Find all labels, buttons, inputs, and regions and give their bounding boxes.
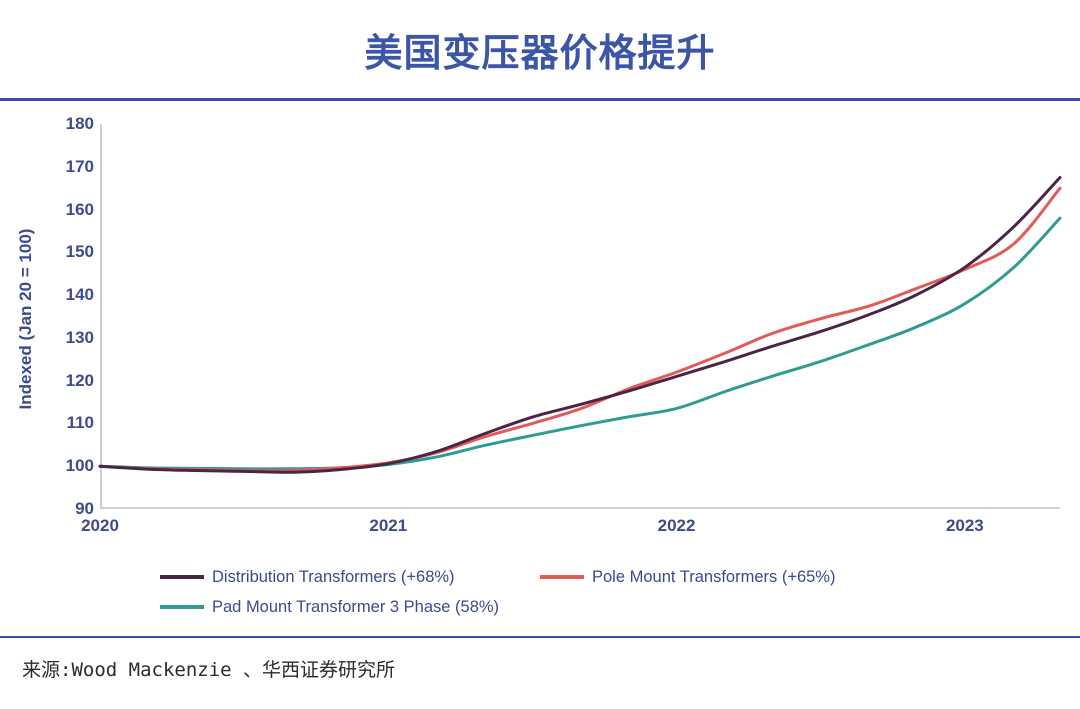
legend-label-pole-mount-transformers: Pole Mount Transformers (+65%): [592, 568, 835, 587]
series-line: [100, 218, 1060, 469]
chart-container: Indexed (Jan 20 = 100) 90100110120130140…: [0, 104, 1080, 634]
legend-label-pad-mount-transformer: Pad Mount Transformer 3 Phase (58%): [212, 598, 499, 617]
legend-label-distribution-transformers: Distribution Transformers (+68%): [212, 568, 455, 587]
legend-swatch-distribution-transformers: [160, 575, 204, 579]
legend-row: Pad Mount Transformer 3 Phase (58%): [160, 592, 1060, 622]
series-line: [100, 188, 1060, 471]
legend-item-pole-mount-transformers[interactable]: Pole Mount Transformers (+65%): [540, 568, 835, 587]
legend-row: Distribution Transformers (+68%) Pole Mo…: [160, 562, 1060, 592]
footer-divider: [0, 636, 1080, 638]
legend-item-distribution-transformers[interactable]: Distribution Transformers (+68%): [160, 568, 540, 587]
series-line: [100, 177, 1060, 472]
legend-item-pad-mount-transformer[interactable]: Pad Mount Transformer 3 Phase (58%): [160, 598, 540, 617]
title-divider: [0, 98, 1080, 101]
legend-swatch-pad-mount-transformer: [160, 605, 204, 609]
chart-legend: Distribution Transformers (+68%) Pole Mo…: [160, 562, 1060, 622]
source-note: 来源:Wood Mackenzie 、华西证券研究所: [22, 655, 395, 682]
legend-swatch-pole-mount-transformers: [540, 575, 584, 579]
page-title: 美国变压器价格提升: [0, 22, 1080, 77]
series-lines: [0, 104, 1080, 634]
chart-page: 美国变压器价格提升 Indexed (Jan 20 = 100) 9010011…: [0, 0, 1080, 709]
